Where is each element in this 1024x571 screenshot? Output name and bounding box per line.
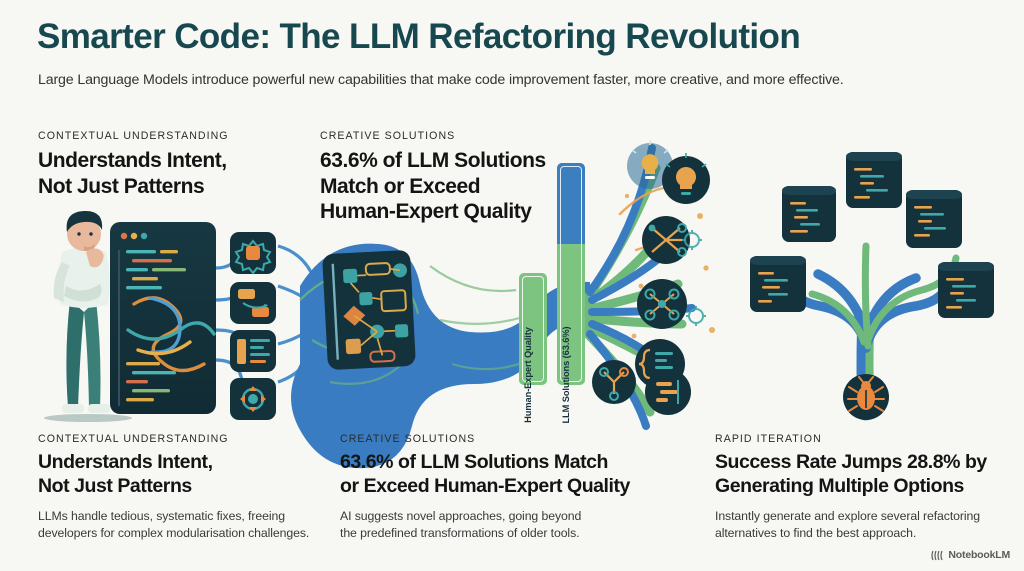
decorative-sparks xyxy=(625,194,715,339)
headline-line: Match or Exceed xyxy=(320,174,570,200)
body-line: alternatives to find the best approach. xyxy=(715,525,1015,543)
badge-code-brackets xyxy=(635,339,685,389)
flow-diagram-card xyxy=(322,250,416,370)
section-body: Instantly generate and explore several r… xyxy=(715,508,1015,544)
flow-arrow-icon xyxy=(122,284,182,332)
icon-card-gear xyxy=(230,232,276,274)
headline-line: 63.6% of LLM Solutions xyxy=(320,148,570,174)
badge-code-panel xyxy=(645,369,691,415)
headline-line: Not Just Patterns xyxy=(38,174,303,200)
bar-label-llm-solutions: LLM Solutions (63.6%) xyxy=(561,326,571,423)
body-line: AI suggests novel approaches, going beyo… xyxy=(340,508,670,526)
notebook-spiral-icon xyxy=(931,550,944,561)
tree-code-card xyxy=(938,262,994,318)
watermark-label: NotebookLM xyxy=(948,549,1010,561)
badge-lightbulb-filled xyxy=(662,153,710,204)
body-line: Instantly generate and explore several r… xyxy=(715,508,1015,526)
section-bottom-contextual-understanding: CONTEXTUAL UNDERSTANDING Understands Int… xyxy=(38,433,338,543)
section-headline: 63.6% of LLM Solutions Match or Exceed H… xyxy=(320,148,570,225)
icon-card-cycle xyxy=(230,378,276,420)
headline-line: Generating Multiple Options xyxy=(715,475,1015,499)
page-subtitle: Large Language Models introduce powerful… xyxy=(38,72,998,88)
code-window-card xyxy=(110,222,216,414)
bug-icon-badge xyxy=(843,374,889,420)
decorative-node-rings xyxy=(682,230,706,326)
section-headline: Understands Intent, Not Just Patterns xyxy=(38,148,303,199)
section-headline: Success Rate Jumps 28.8% by Generating M… xyxy=(715,451,1015,499)
badge-branch-merge xyxy=(642,216,690,264)
page-title: Smarter Code: The LLM Refactoring Revolu… xyxy=(37,18,997,56)
section-body: LLMs handle tedious, systematic fixes, f… xyxy=(38,508,338,544)
eyebrow-label: CONTEXTUAL UNDERSTANDING xyxy=(38,433,338,445)
headline-line: Understands Intent, xyxy=(38,148,303,174)
tree-code-card xyxy=(906,190,962,248)
connector-lines xyxy=(216,246,320,382)
headline-line: Success Rate Jumps 28.8% by xyxy=(715,451,1015,475)
bar-human-expert-quality: Human-Expert Quality xyxy=(519,273,547,385)
section-bottom-rapid-iteration: RAPID ITERATION Success Rate Jumps 28.8%… xyxy=(715,433,1015,543)
tree-code-card xyxy=(846,152,902,208)
section-top-contextual-understanding: CONTEXTUAL UNDERSTANDING Understands Int… xyxy=(38,130,303,199)
eyebrow-label: CREATIVE SOLUTIONS xyxy=(340,433,670,445)
eyebrow-label: CREATIVE SOLUTIONS xyxy=(320,130,570,142)
headline-line: Human-Expert Quality xyxy=(320,199,570,225)
tree-code-card xyxy=(782,186,836,242)
eyebrow-label: RAPID ITERATION xyxy=(715,433,1015,445)
icon-card-code-list xyxy=(230,330,276,372)
thinking-person-illustration xyxy=(44,211,132,422)
tree-code-card xyxy=(750,256,806,312)
badge-git-graph xyxy=(592,360,636,404)
body-line: developers for complex modularisation ch… xyxy=(38,525,338,543)
headline-line: Understands Intent, xyxy=(38,451,338,475)
body-line: the predefined transformations of older … xyxy=(340,525,670,543)
bar-label-human-expert: Human-Expert Quality xyxy=(523,327,533,423)
section-headline: Understands Intent, Not Just Patterns xyxy=(38,451,338,499)
section-body: AI suggests novel approaches, going beyo… xyxy=(340,508,670,544)
section-top-creative-solutions: CREATIVE SOLUTIONS 63.6% of LLM Solution… xyxy=(320,130,570,225)
headline-line: 63.6% of LLM Solutions Match xyxy=(340,451,670,475)
infographic-canvas: Human-Expert Quality LLM Solutions (63.6… xyxy=(0,0,1024,571)
headline-line: Not Just Patterns xyxy=(38,475,338,499)
section-headline: 63.6% of LLM Solutions Match or Exceed H… xyxy=(340,451,670,499)
section-bottom-creative-solutions: CREATIVE SOLUTIONS 63.6% of LLM Solution… xyxy=(340,433,670,543)
idea-fanout-ribbons xyxy=(586,148,692,426)
refactoring-tree-illustration xyxy=(750,152,994,420)
notebooklm-watermark: NotebookLM xyxy=(931,549,1010,561)
badge-lightbulb-outline xyxy=(627,140,673,189)
body-line: LLMs handle tedious, systematic fixes, f… xyxy=(38,508,338,526)
eyebrow-label: CONTEXTUAL UNDERSTANDING xyxy=(38,130,303,142)
headline-line: or Exceed Human-Expert Quality xyxy=(340,475,670,499)
icon-card-swap-blocks xyxy=(230,282,276,324)
badge-network-nodes xyxy=(637,279,687,329)
